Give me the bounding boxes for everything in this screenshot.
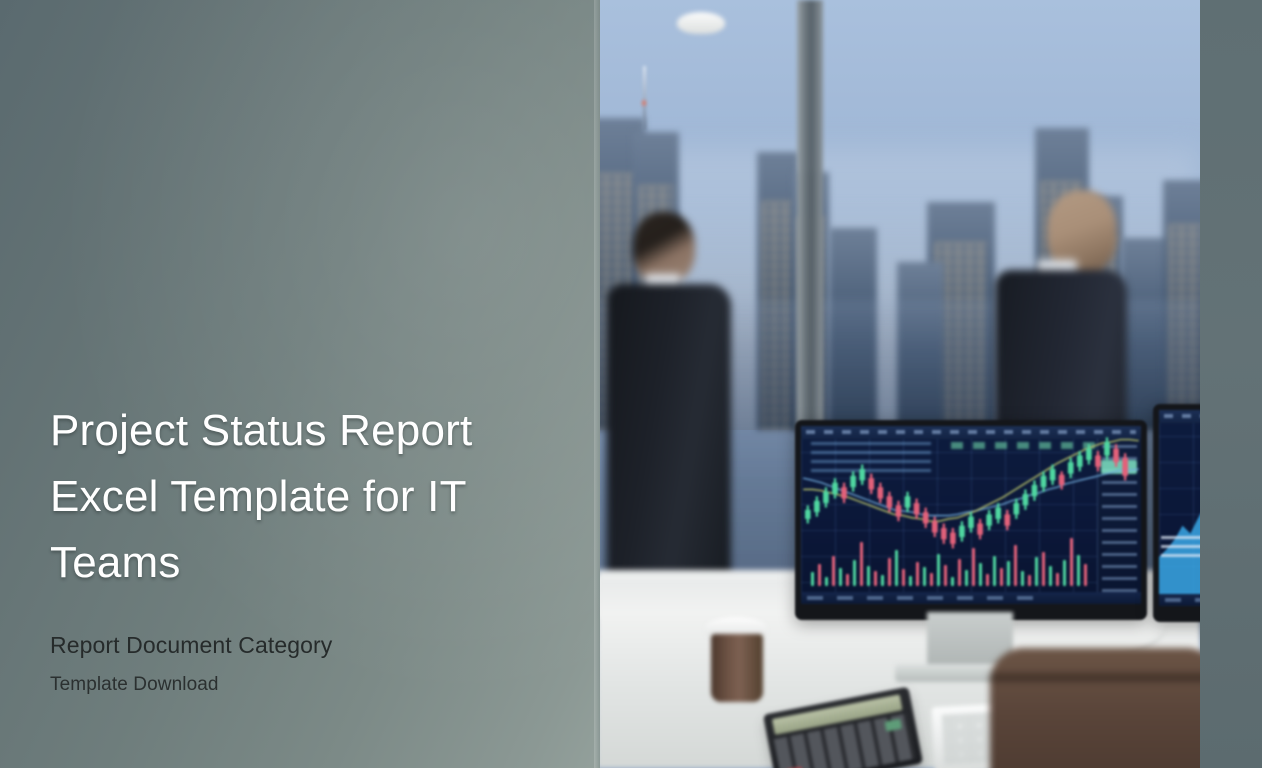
volume-bar xyxy=(1077,555,1080,586)
computer-mouse xyxy=(677,12,725,34)
volume-bar xyxy=(1042,552,1045,586)
volume-bar xyxy=(1007,561,1010,586)
primary-monitor-screen xyxy=(801,426,1141,604)
volume-bar xyxy=(1070,538,1073,586)
background-photo xyxy=(597,0,1200,768)
volume-bar xyxy=(986,574,989,586)
volume-bar xyxy=(1000,568,1003,586)
volume-bar xyxy=(811,572,814,586)
title-text-block: Project Status Report Excel Template for… xyxy=(50,398,520,697)
volume-bar xyxy=(1028,575,1031,586)
wall-edge-highlight xyxy=(594,0,600,768)
volume-bar xyxy=(1021,571,1024,586)
volume-bar xyxy=(951,577,954,586)
volume-bar xyxy=(944,565,947,586)
office-chair xyxy=(990,648,1200,768)
volume-bar xyxy=(965,570,968,586)
businessman-left xyxy=(605,212,735,632)
right-color-band xyxy=(1200,0,1262,768)
volume-bar xyxy=(860,542,863,586)
volume-bar xyxy=(825,577,828,586)
skyscraper xyxy=(897,262,943,430)
slide-subtitle: Report Document Category xyxy=(50,630,520,660)
volume-bar xyxy=(839,568,842,586)
skyscraper xyxy=(829,228,877,430)
volume-bar xyxy=(972,548,975,586)
spire-light-icon xyxy=(642,100,646,106)
volume-bar xyxy=(853,560,856,586)
person-torso xyxy=(607,284,731,614)
volume-histogram xyxy=(807,534,1091,586)
volume-bar xyxy=(1084,564,1087,586)
volume-bar xyxy=(979,563,982,586)
volume-bar xyxy=(1014,545,1017,586)
spire-icon xyxy=(643,66,646,130)
primary-monitor xyxy=(795,420,1147,620)
volume-bar xyxy=(902,569,905,586)
volume-bar xyxy=(818,564,821,586)
volume-bar xyxy=(832,556,835,586)
presentation-slide: Project Status Report Excel Template for… xyxy=(0,0,1262,768)
chair-seam xyxy=(990,674,1200,681)
volume-bar xyxy=(881,575,884,586)
secondary-monitor xyxy=(1153,404,1200,622)
skyscraper xyxy=(1163,180,1200,430)
volume-bar xyxy=(874,571,877,586)
page-title: Project Status Report Excel Template for… xyxy=(50,398,520,596)
volume-bar xyxy=(895,550,898,586)
secondary-monitor-screen xyxy=(1159,410,1200,606)
volume-bar xyxy=(1035,557,1038,586)
slide-caption: Template Download xyxy=(50,672,520,697)
volume-bar xyxy=(916,562,919,586)
volume-bar xyxy=(930,573,933,586)
coffee-cup xyxy=(711,634,763,702)
volume-bar xyxy=(867,566,870,586)
volume-bar xyxy=(923,567,926,586)
volume-bar xyxy=(937,554,940,586)
volume-bar xyxy=(1063,560,1066,586)
volume-bar xyxy=(909,576,912,586)
volume-bar xyxy=(888,558,891,586)
volume-bar xyxy=(1056,573,1059,586)
chart-status-bar xyxy=(1159,594,1200,606)
volume-bar xyxy=(958,559,961,586)
volume-bar xyxy=(993,556,996,586)
volume-bar xyxy=(846,574,849,586)
volume-bar xyxy=(1049,566,1052,586)
